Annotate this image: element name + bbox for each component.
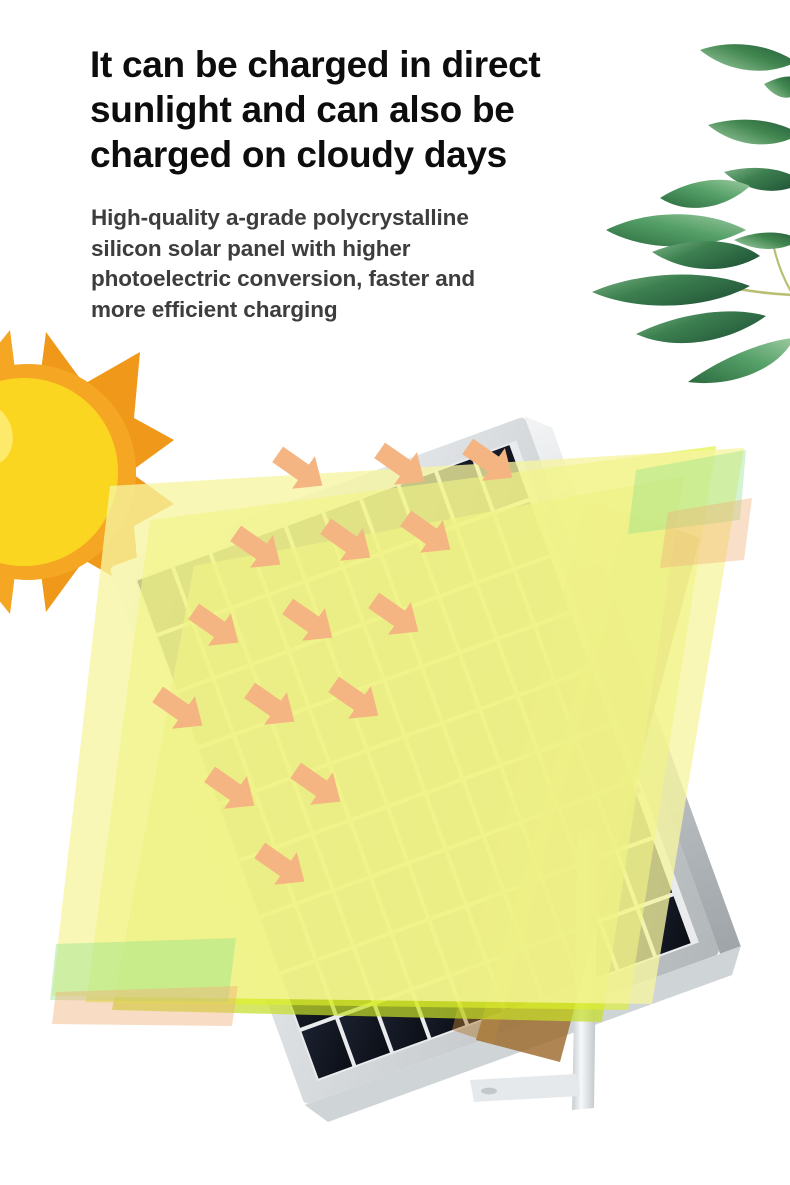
sunlight-arrow: [368, 434, 436, 498]
solar-panel-illustration: [0, 0, 790, 1185]
sun-rays: [0, 330, 174, 614]
product-feature-banner: It can be charged in direct sunlight and…: [0, 0, 790, 1185]
panel-hinge-bolt: [617, 776, 630, 789]
sunlight-arrow: [182, 595, 250, 659]
sheet-green-tint-top: [628, 450, 752, 568]
panel-laminate: [135, 441, 699, 1082]
page-subtitle: High-quality a-grade polycrystalline sil…: [91, 203, 636, 325]
sunlight-arrow-group: [146, 430, 524, 898]
sun-disc: [0, 378, 118, 566]
sunlight-arrow: [394, 502, 462, 566]
olive-leaf: [734, 233, 790, 250]
olive-leaf: [708, 120, 790, 145]
solar-panel: [109, 409, 749, 1128]
sunlight-arrow: [362, 584, 430, 648]
sheet-green-tint: [50, 938, 238, 1026]
stand-foot-hole: [481, 1088, 497, 1095]
sunlight-arrow: [248, 834, 316, 898]
stand-hinge: [580, 831, 592, 839]
olive-leaf: [636, 311, 766, 343]
inner-olive-sheet: [112, 476, 684, 1022]
sunlight-arrow: [266, 438, 334, 502]
page-title: It can be charged in direct sunlight and…: [90, 42, 670, 177]
warm-light-band: [452, 500, 700, 1062]
sun-icon: [0, 322, 178, 622]
sunlight-arrow: [314, 510, 382, 574]
olive-stem: [738, 289, 790, 295]
sunlight-arrow: [456, 430, 524, 494]
sunlight-arrow: [198, 758, 266, 822]
panel-stand: [470, 828, 598, 1110]
sunlight-arrow: [224, 517, 292, 581]
olive-leaf: [724, 168, 790, 191]
stand-leg: [572, 828, 598, 1110]
outer-pale-sheet: [52, 448, 744, 1004]
olive-leaf: [764, 76, 790, 97]
olive-leaf: [688, 338, 790, 383]
sun-highlight: [0, 395, 21, 473]
panel-frame: [109, 416, 720, 1105]
mid-yellow-green-sheet: [86, 446, 716, 1010]
panel-frame-edge-right: [524, 409, 740, 954]
sunlight-arrow: [146, 678, 214, 742]
panel-frame-edge-bottom: [305, 946, 749, 1127]
stand-foot: [470, 1074, 580, 1102]
sunlight-arrow: [238, 674, 306, 738]
sunlight-arrow: [276, 590, 344, 654]
olive-leaf: [700, 44, 790, 71]
olive-stem-upper: [774, 248, 790, 295]
sunlight-arrow: [284, 754, 352, 818]
sunlight-arrow: [322, 668, 390, 732]
panel-hinge-bolt: [633, 786, 642, 795]
olive-leaf: [660, 180, 750, 208]
olive-leaf: [652, 241, 760, 269]
panel-cell-grid: [137, 445, 690, 1078]
